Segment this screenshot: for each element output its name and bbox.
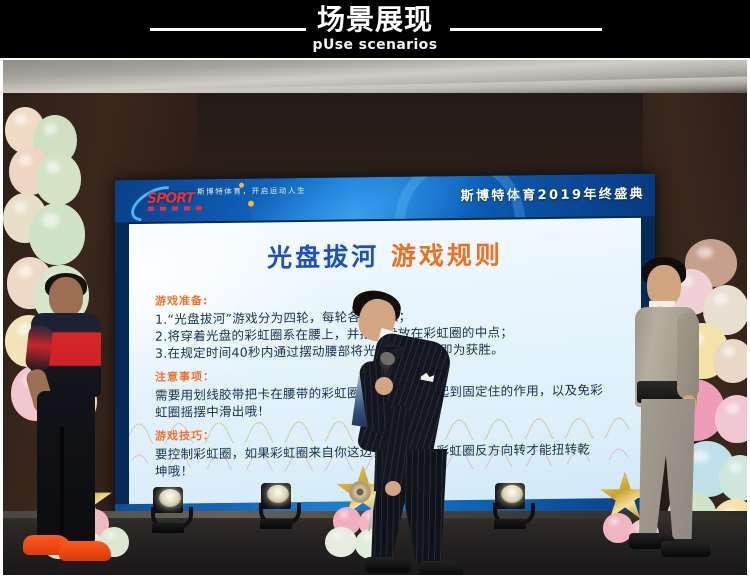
light-lens-icon <box>501 485 523 503</box>
page-root: 场景展现 pUse scenarios SPORT 斯博特体育，开启运 <box>0 0 750 578</box>
banner-subtitle: pUse scenarios <box>0 37 750 53</box>
person-center-host <box>333 285 493 575</box>
shoe <box>365 557 411 573</box>
shoe <box>661 541 711 557</box>
balloon <box>715 395 747 443</box>
person-right-man <box>625 257 717 575</box>
banner-title: 场景展现 <box>0 4 750 36</box>
compact-disc-prop <box>349 481 371 503</box>
stage-photo: SPORT 斯博特体育，开启运动人生 斯博特体育2019年终盛典 <box>3 59 747 575</box>
leg-split <box>60 427 64 543</box>
accent-dot-upper-icon <box>239 183 244 188</box>
legs <box>639 399 695 539</box>
balloon <box>713 339 747 383</box>
legs <box>37 391 95 543</box>
slide-title: 光盘拔河 游戏规则 <box>129 234 641 276</box>
arm <box>677 313 699 399</box>
hand <box>375 377 393 395</box>
moving-head-light <box>493 483 527 529</box>
shoe <box>419 561 463 575</box>
light-lens-icon <box>159 489 181 507</box>
person-left-athlete <box>27 277 113 575</box>
hand <box>385 481 401 496</box>
light-lens-icon <box>267 485 289 503</box>
shoe <box>59 541 111 561</box>
screen-header-bar: SPORT 斯博特体育，开启运动人生 斯博特体育2019年终盛典 <box>115 174 655 223</box>
logo-dots-icon <box>148 206 208 211</box>
balloon <box>719 455 747 501</box>
event-title: 斯博特体育2019年终盛典 <box>461 183 645 204</box>
slide-title-secondary: 游戏规则 <box>391 241 503 271</box>
photo-container: SPORT 斯博特体育，开启运动人生 斯博特体育2019年终盛典 <box>0 58 750 578</box>
accent-dot-lower-icon <box>248 201 254 207</box>
section-banner: 场景展现 pUse scenarios <box>0 0 750 58</box>
moving-head-light <box>151 487 185 533</box>
balloon <box>29 203 85 265</box>
logo-tagline: 斯博特体育，开启运动人生 <box>197 185 306 197</box>
head <box>49 277 83 317</box>
moving-head-light <box>259 483 293 529</box>
logo-wordmark: SPORT <box>147 190 194 207</box>
slide-title-primary: 光盘拔河 <box>267 242 379 272</box>
balloon <box>35 153 81 205</box>
